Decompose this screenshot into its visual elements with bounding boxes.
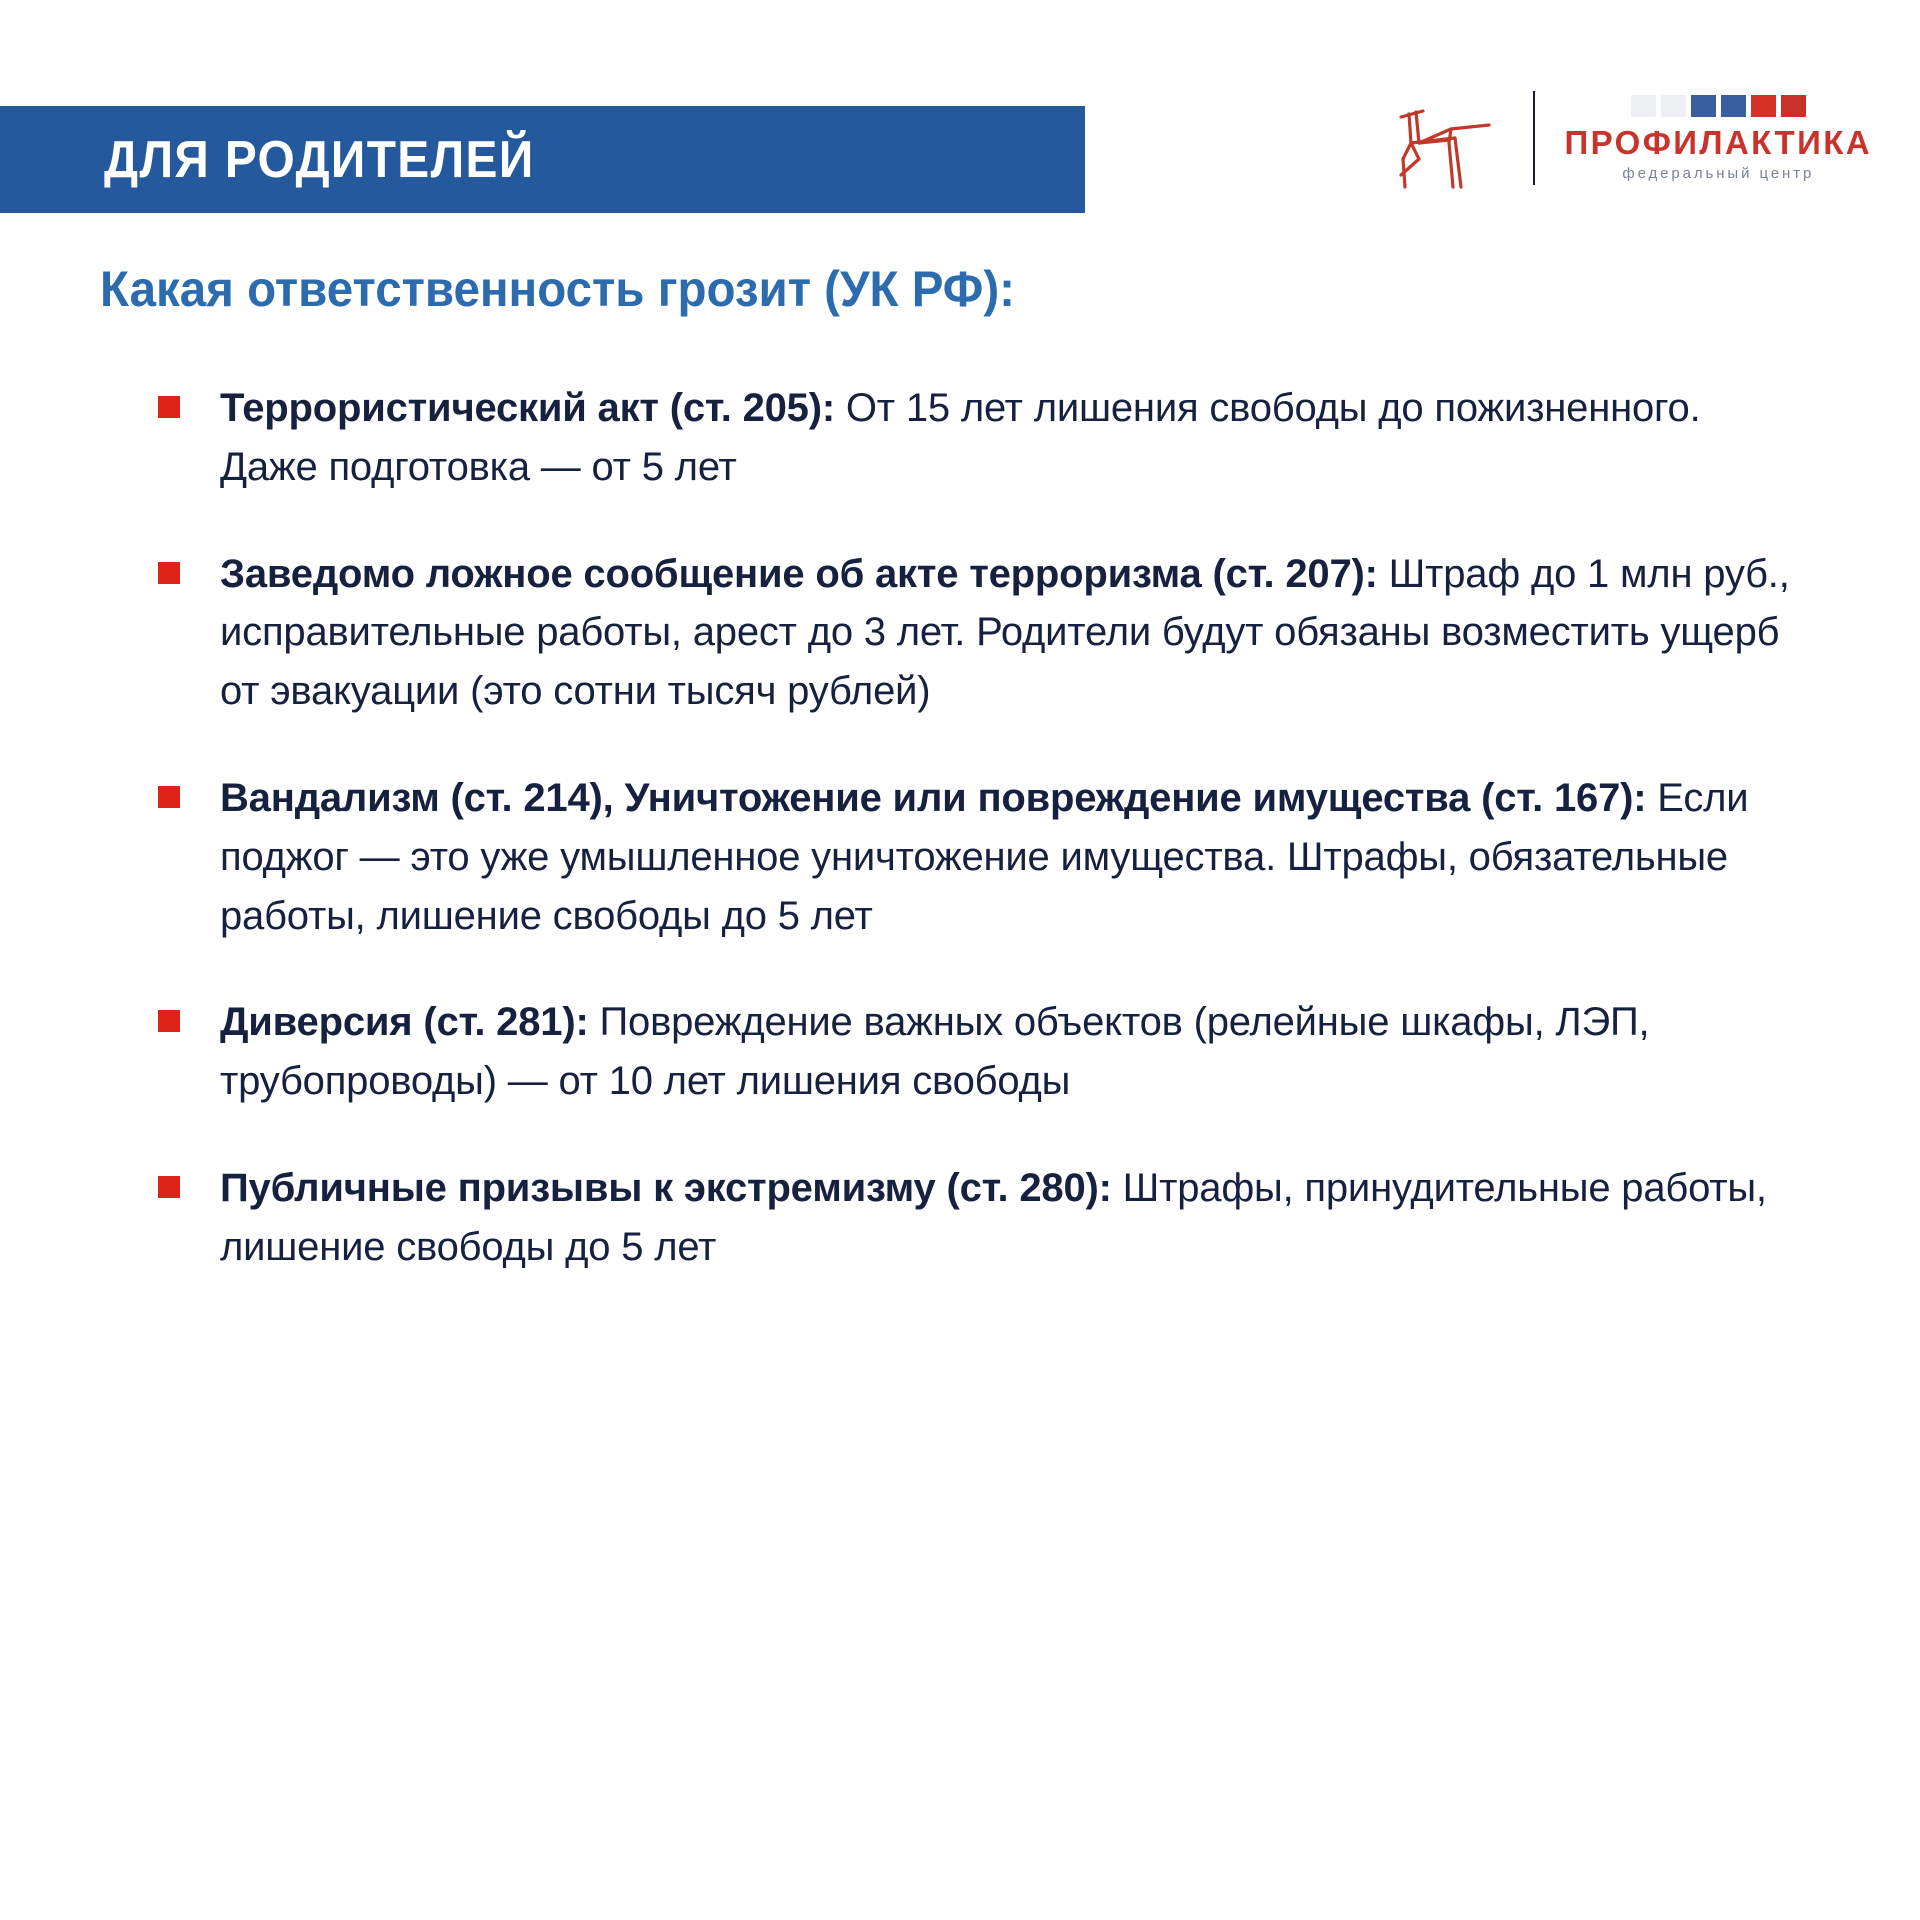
page-title: ДЛЯ РОДИТЕЛЕЙ xyxy=(104,130,535,190)
header-band: ДЛЯ РОДИТЕЛЕЙ xyxy=(0,106,1085,213)
logo-square-6 xyxy=(1781,95,1806,117)
responsibility-list: Террористический акт (ст. 205): От 15 ле… xyxy=(0,379,1920,1277)
bullet-square-icon xyxy=(158,396,180,418)
logo-square-3 xyxy=(1691,95,1716,117)
logo-square-2 xyxy=(1661,95,1686,117)
list-item: Заведомо ложное сообщение об акте террор… xyxy=(158,545,1800,721)
list-item-term: Публичные призывы к экстремизму (ст. 280… xyxy=(220,1166,1112,1210)
logo-square-5 xyxy=(1751,95,1776,117)
bullet-square-icon xyxy=(158,1010,180,1032)
bullet-square-icon xyxy=(158,562,180,584)
logo-divider xyxy=(1533,91,1535,185)
list-item-term: Заведомо ложное сообщение об акте террор… xyxy=(220,552,1378,596)
bullet-square-icon xyxy=(158,1176,180,1198)
main-content: Какая ответственность грозит (УК РФ): Те… xyxy=(0,262,1920,1325)
section-heading: Какая ответственность грозит (УК РФ): xyxy=(100,262,1829,317)
logo-wordmark: ПРОФИЛАКТИКА xyxy=(1565,126,1872,159)
logo-squares xyxy=(1631,95,1806,117)
chair-line-art-icon xyxy=(1389,83,1519,193)
list-item: Публичные призывы к экстремизму (ст. 280… xyxy=(158,1159,1800,1277)
logo-subtitle: федеральный центр xyxy=(1622,166,1814,181)
list-item: Диверсия (ст. 281): Повреждение важных о… xyxy=(158,993,1800,1111)
logo-text: ПРОФИЛАКТИКА федеральный центр xyxy=(1565,95,1872,181)
list-item: Террористический акт (ст. 205): От 15 ле… xyxy=(158,379,1800,497)
logo-square-1 xyxy=(1631,95,1656,117)
list-item: Вандализм (ст. 214), Уничтожение или пов… xyxy=(158,769,1800,945)
bullet-square-icon xyxy=(158,786,180,808)
logo-square-4 xyxy=(1721,95,1746,117)
list-item-term: Вандализм (ст. 214), Уничтожение или пов… xyxy=(220,776,1646,820)
list-item-term: Диверсия (ст. 281): xyxy=(220,1000,589,1044)
brand-logo: ПРОФИЛАКТИКА федеральный центр xyxy=(1389,78,1872,198)
list-item-term: Террористический акт (ст. 205): xyxy=(220,386,835,430)
